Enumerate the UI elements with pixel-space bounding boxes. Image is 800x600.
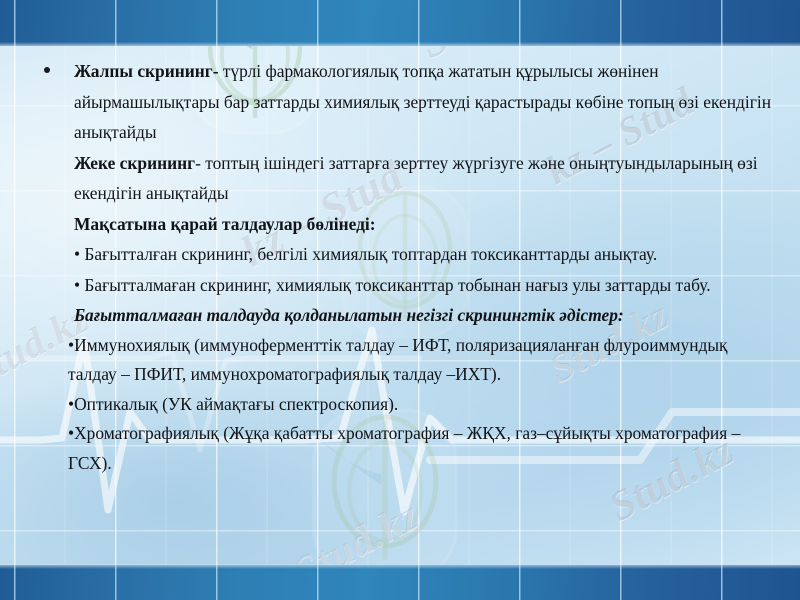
heading-purpose-label: Мақсатына қарай талдаулар бөлінеді: [74,214,376,234]
slide-top-band [0,0,800,46]
paragraph-general-screening: Жалпы скрининг- түрлі фармакологиялық то… [38,56,774,148]
paragraph-individual-screening: Жеке скрининг- топтың ішіндегі заттарға … [38,148,774,209]
list-item-targeted-screening-label: • Бағытталған скрининг, белгілі химиялық… [74,244,657,264]
band-grid-lines [0,565,800,600]
slide-body-text: Жалпы скрининг- түрлі фармакологиялық то… [38,56,774,478]
list-item-untargeted-screening: • Бағытталмаған скрининг, химиялық токси… [38,270,774,301]
bullet-dot-icon [44,67,50,73]
term-general-screening: Жалпы скрининг- [74,61,219,81]
heading-screening-methods: Бағытталмаған талдауда қолданылатын негі… [38,300,774,331]
list-item-method-chromatographic: •Хроматографиялық (Жұқа қабатты хроматог… [38,419,774,478]
heading-purpose-classification: Мақсатына қарай талдаулар бөлінеді: [38,209,774,240]
heading-screening-methods-label: Бағытталмаған талдауда қолданылатын негі… [74,305,624,325]
presentation-slide: Stud.kz Stud.kz kz – Stud kz – Stud Stud… [0,0,800,600]
list-item-method-immunological: •Иммунохиялық (иммуноферменттік талдау –… [38,331,774,390]
list-item-method-immunological-label: •Иммунохиялық (иммуноферменттік талдау –… [68,335,728,385]
term-individual-screening: Жеке скрининг [74,153,195,173]
band-grid-lines [0,0,800,46]
list-item-method-optical-label: •Оптикалық (УК аймақтағы спектроскопия). [68,394,398,414]
list-item-targeted-screening: • Бағытталған скрининг, белгілі химиялық… [38,239,774,270]
list-item-method-optical: •Оптикалық (УК аймақтағы спектроскопия). [38,390,774,420]
list-item-untargeted-screening-label: • Бағытталмаған скрининг, химиялық токси… [74,275,711,295]
slide-bottom-band [0,565,800,600]
list-item-method-chromatographic-label: •Хроматографиялық (Жұқа қабатты хроматог… [68,423,740,473]
